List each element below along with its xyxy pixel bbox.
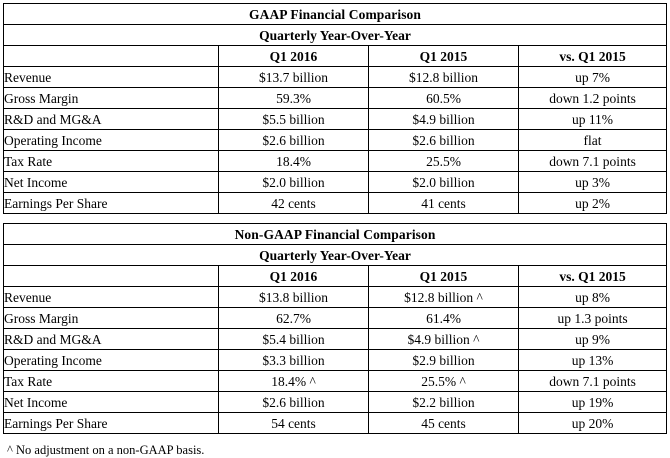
row-label: Net Income <box>4 172 219 193</box>
table-subtitle: Quarterly Year-Over-Year <box>4 25 667 46</box>
row-label: Gross Margin <box>4 88 219 109</box>
cell-current: $13.8 billion <box>219 287 369 308</box>
table-row: Operating Income $3.3 billion $2.9 billi… <box>4 350 667 371</box>
row-label: R&D and MG&A <box>4 109 219 130</box>
table-subtitle: Quarterly Year-Over-Year <box>4 245 667 266</box>
column-header-prior-period: Q1 2015 <box>369 266 519 287</box>
table-title: GAAP Financial Comparison <box>4 4 667 25</box>
table-row: Operating Income $2.6 billion $2.6 billi… <box>4 130 667 151</box>
table-row: Revenue $13.7 billion $12.8 billion up 7… <box>4 67 667 88</box>
table-row: Revenue $13.8 billion $12.8 billion ^ up… <box>4 287 667 308</box>
table-row: Gross Margin 62.7% 61.4% up 1.3 points <box>4 308 667 329</box>
table-row: R&D and MG&A $5.4 billion $4.9 billion ^… <box>4 329 667 350</box>
table-separator-gap <box>3 214 666 223</box>
column-header-change: vs. Q1 2015 <box>519 46 667 67</box>
cell-prior: $2.6 billion <box>369 130 519 151</box>
cell-change: up 1.3 points <box>519 308 667 329</box>
cell-current: 18.4% <box>219 151 369 172</box>
row-label: Revenue <box>4 287 219 308</box>
cell-change: up 20% <box>519 413 667 434</box>
row-label: Revenue <box>4 67 219 88</box>
table-row: Net Income $2.6 billion $2.2 billion up … <box>4 392 667 413</box>
cell-current: 54 cents <box>219 413 369 434</box>
cell-prior: 45 cents <box>369 413 519 434</box>
cell-change: up 9% <box>519 329 667 350</box>
cell-prior: $2.9 billion <box>369 350 519 371</box>
cell-current: $2.0 billion <box>219 172 369 193</box>
cell-current: $13.7 billion <box>219 67 369 88</box>
column-header-blank <box>4 46 219 67</box>
table-column-header-row: Q1 2016 Q1 2015 vs. Q1 2015 <box>4 46 667 67</box>
table-title-row: GAAP Financial Comparison <box>4 4 667 25</box>
table-title: Non-GAAP Financial Comparison <box>4 224 667 245</box>
cell-current: 62.7% <box>219 308 369 329</box>
column-header-current-period: Q1 2016 <box>219 266 369 287</box>
row-label: Earnings Per Share <box>4 193 219 214</box>
non-gaap-financial-table: Non-GAAP Financial Comparison Quarterly … <box>3 223 667 434</box>
table-row: Earnings Per Share 42 cents 41 cents up … <box>4 193 667 214</box>
row-label: R&D and MG&A <box>4 329 219 350</box>
cell-change: up 3% <box>519 172 667 193</box>
cell-current: 42 cents <box>219 193 369 214</box>
cell-current: $2.6 billion <box>219 130 369 151</box>
column-header-prior-period: Q1 2015 <box>369 46 519 67</box>
cell-change: up 13% <box>519 350 667 371</box>
table-row: R&D and MG&A $5.5 billion $4.9 billion u… <box>4 109 667 130</box>
column-header-blank <box>4 266 219 287</box>
table-subtitle-row: Quarterly Year-Over-Year <box>4 245 667 266</box>
column-header-change: vs. Q1 2015 <box>519 266 667 287</box>
cell-change: down 7.1 points <box>519 151 667 172</box>
table-row: Tax Rate 18.4% 25.5% down 7.1 points <box>4 151 667 172</box>
table-subtitle-row: Quarterly Year-Over-Year <box>4 25 667 46</box>
row-label: Operating Income <box>4 130 219 151</box>
table-row: Earnings Per Share 54 cents 45 cents up … <box>4 413 667 434</box>
row-label: Tax Rate <box>4 371 219 392</box>
cell-current: $2.6 billion <box>219 392 369 413</box>
gaap-financial-table: GAAP Financial Comparison Quarterly Year… <box>3 3 667 214</box>
cell-change: up 19% <box>519 392 667 413</box>
cell-change: up 7% <box>519 67 667 88</box>
cell-prior: $12.8 billion ^ <box>369 287 519 308</box>
table-row: Gross Margin 59.3% 60.5% down 1.2 points <box>4 88 667 109</box>
cell-prior: $2.2 billion <box>369 392 519 413</box>
cell-change: flat <box>519 130 667 151</box>
cell-prior: $4.9 billion <box>369 109 519 130</box>
table-column-header-row: Q1 2016 Q1 2015 vs. Q1 2015 <box>4 266 667 287</box>
row-label: Tax Rate <box>4 151 219 172</box>
cell-change: down 7.1 points <box>519 371 667 392</box>
footnote-text: ^ No adjustment on a non-GAAP basis. <box>3 443 666 458</box>
cell-current: $5.4 billion <box>219 329 369 350</box>
financial-comparison-page: GAAP Financial Comparison Quarterly Year… <box>0 0 670 454</box>
row-label: Gross Margin <box>4 308 219 329</box>
cell-prior: $2.0 billion <box>369 172 519 193</box>
column-header-current-period: Q1 2016 <box>219 46 369 67</box>
row-label: Net Income <box>4 392 219 413</box>
cell-prior: 41 cents <box>369 193 519 214</box>
cell-prior: 61.4% <box>369 308 519 329</box>
cell-current: 59.3% <box>219 88 369 109</box>
cell-change: down 1.2 points <box>519 88 667 109</box>
cell-prior: 25.5% <box>369 151 519 172</box>
table-row: Net Income $2.0 billion $2.0 billion up … <box>4 172 667 193</box>
row-label: Operating Income <box>4 350 219 371</box>
cell-change: up 8% <box>519 287 667 308</box>
cell-prior: 25.5% ^ <box>369 371 519 392</box>
cell-prior: $4.9 billion ^ <box>369 329 519 350</box>
cell-current: 18.4% ^ <box>219 371 369 392</box>
cell-prior: $12.8 billion <box>369 67 519 88</box>
cell-change: up 11% <box>519 109 667 130</box>
cell-prior: 60.5% <box>369 88 519 109</box>
row-label: Earnings Per Share <box>4 413 219 434</box>
cell-change: up 2% <box>519 193 667 214</box>
table-title-row: Non-GAAP Financial Comparison <box>4 224 667 245</box>
cell-current: $3.3 billion <box>219 350 369 371</box>
table-row: Tax Rate 18.4% ^ 25.5% ^ down 7.1 points <box>4 371 667 392</box>
cell-current: $5.5 billion <box>219 109 369 130</box>
